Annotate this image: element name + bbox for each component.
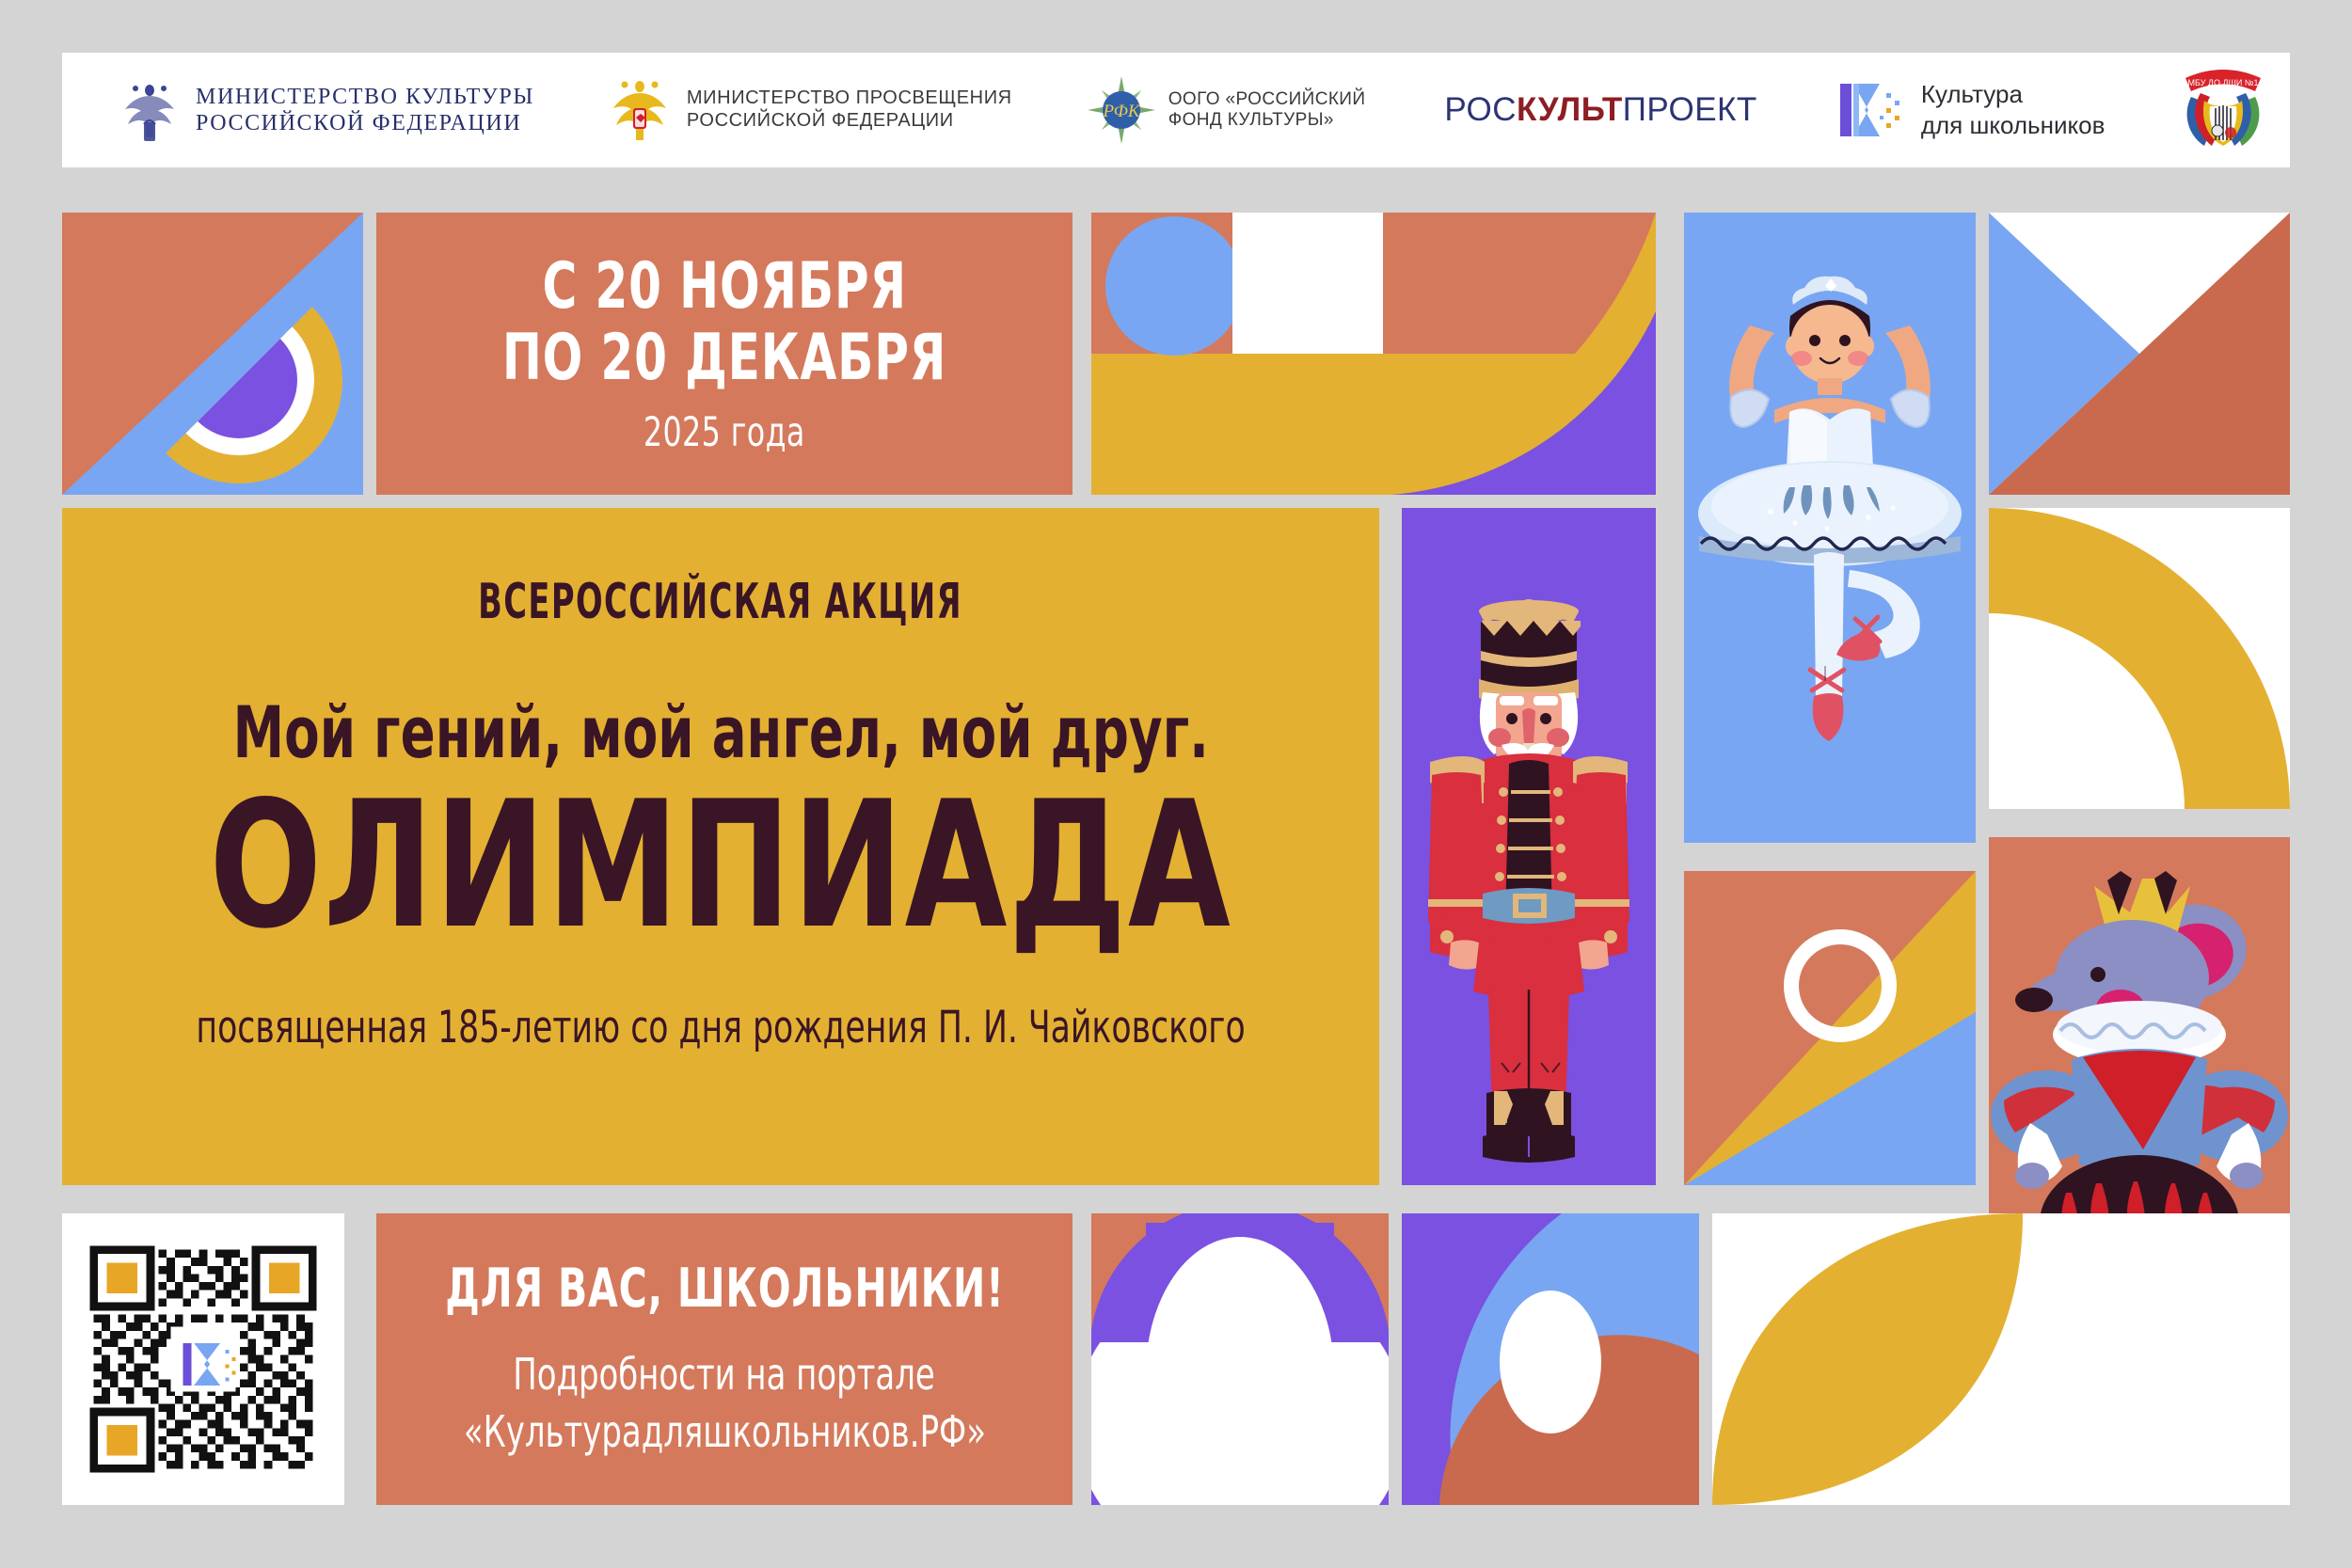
logo-russian-culture-fund-label: ООГО «РОССИЙСКИЙ ФОНД КУЛЬТУРЫ» [1168,89,1366,132]
logo-ministry-of-culture: МИНИСТЕРСТВО КУЛЬТУРЫ РОССИЙСКОЙ ФЕДЕРАЦ… [115,53,534,167]
decor-tile-top-middle [1091,213,1656,495]
lyre-emblem-icon: МБУ ДО ДШИ №1 [2172,59,2274,161]
qr-code-graphic [86,1242,321,1477]
wordmark-part-1: РОС [1444,91,1517,128]
poster: МИНИСТЕРСТВО КУЛЬТУРЫ РОССИЙСКОЙ ФЕДЕРАЦ… [0,0,2352,1568]
decor-arcs-graphic [62,213,363,495]
decor-top-right-graphic [1989,213,2290,495]
svg-text:РФК: РФК [1102,102,1140,121]
wordmark-part-3: ПРОЕКТ [1623,91,1757,128]
decor-tile-bottom-3 [1712,1213,2290,1505]
decor-top-middle-graphic [1091,213,1656,495]
nutcracker-graphic [1402,508,1656,1185]
date-line-2: ПО 20 ДЕКАБРЯ [502,323,946,394]
roskultproject-wordmark: РОСКУЛЬТПРОЕКТ [1444,91,1756,129]
date-line-1: С 20 НОЯБРЯ [542,251,906,323]
decor-bottom-2-graphic [1402,1213,1699,1505]
logo-roskultproject: РОСКУЛЬТПРОЕКТ [1444,53,1756,167]
decor-tile-right-middle [1684,871,1976,1185]
logo-music-school-emblem: МБУ ДО ДШИ №1 [2172,53,2274,167]
page-title: ОЛИМПИАДА [210,778,1232,953]
decor-right-arc-graphic [1989,508,2290,809]
decor-right-middle-graphic [1684,871,1976,1185]
footer-portal-link[interactable]: «Культурадляшкольников.РФ» [463,1403,985,1461]
decor-bottom-1-graphic [1091,1213,1389,1505]
wordmark-part-2: КУЛЬТ [1517,91,1623,128]
decor-tile-bottom-1 [1091,1213,1389,1505]
campaign-kicker: ВСЕРОССИЙСКАЯ АКЦИЯ [479,574,963,630]
logo-russian-culture-fund: РФК ООГО «РОССИЙСКИЙ ФОНД КУЛЬТУРЫ» [1086,53,1366,167]
date-block: С 20 НОЯБРЯ ПО 20 ДЕКАБРЯ 2025 года [376,213,1073,495]
decor-tile-bottom-2 [1402,1213,1699,1505]
date-year: 2025 года [644,409,805,456]
decor-bottom-3-graphic [1712,1213,2290,1505]
illustration-ballerina [1684,213,1976,843]
campaign-tagline: Мой гений, мой ангел, мой друг. [232,690,1208,774]
illustration-nutcracker [1402,508,1656,1185]
qr-code[interactable] [62,1213,344,1505]
starburst-emblem-icon: РФК [1086,74,1157,146]
footer-line-1: Подробности на портале [514,1346,936,1403]
ballerina-graphic [1684,213,1976,843]
campaign-dedication: посвященная 185-летию со дня рождения П.… [196,1002,1245,1053]
logo-ministry-of-education: МИНИСТЕРСТВО ПРОСВЕЩЕНИЯ РОССИЙСКОЙ ФЕДЕ… [604,53,1012,167]
main-content-block: ВСЕРОССИЙСКАЯ АКЦИЯ Мой гений, мой ангел… [62,508,1379,1185]
kb-bookmark-logo-icon [1833,74,1908,146]
decor-tile-top-right [1989,213,2290,495]
footer-heading: ДЛЯ ВАС, ШКОЛЬНИКИ! [445,1258,1004,1320]
decor-tile-right-arc [1989,508,2290,809]
logo-culture-for-schoolchildren: Культура для школьников [1833,53,2106,167]
russian-double-eagle-gold-icon [604,74,675,146]
logo-culture-for-schoolchildren-label: Культура для школьников [1921,79,2106,142]
russian-double-eagle-blue-icon [115,75,184,145]
logo-bar: МИНИСТЕРСТВО КУЛЬТУРЫ РОССИЙСКОЙ ФЕДЕРАЦ… [62,53,2290,167]
svg-text:МБУ ДО ДШИ №1: МБУ ДО ДШИ №1 [2188,78,2259,87]
logo-ministry-of-culture-label: МИНИСТЕРСТВО КУЛЬТУРЫ РОССИЙСКОЙ ФЕДЕРАЦ… [196,84,534,137]
decor-tile-arcs [62,213,363,495]
footer-block: ДЛЯ ВАС, ШКОЛЬНИКИ! Подробности на порта… [376,1213,1073,1505]
logo-ministry-of-education-label: МИНИСТЕРСТВО ПРОСВЕЩЕНИЯ РОССИЙСКОЙ ФЕДЕ… [687,87,1012,132]
